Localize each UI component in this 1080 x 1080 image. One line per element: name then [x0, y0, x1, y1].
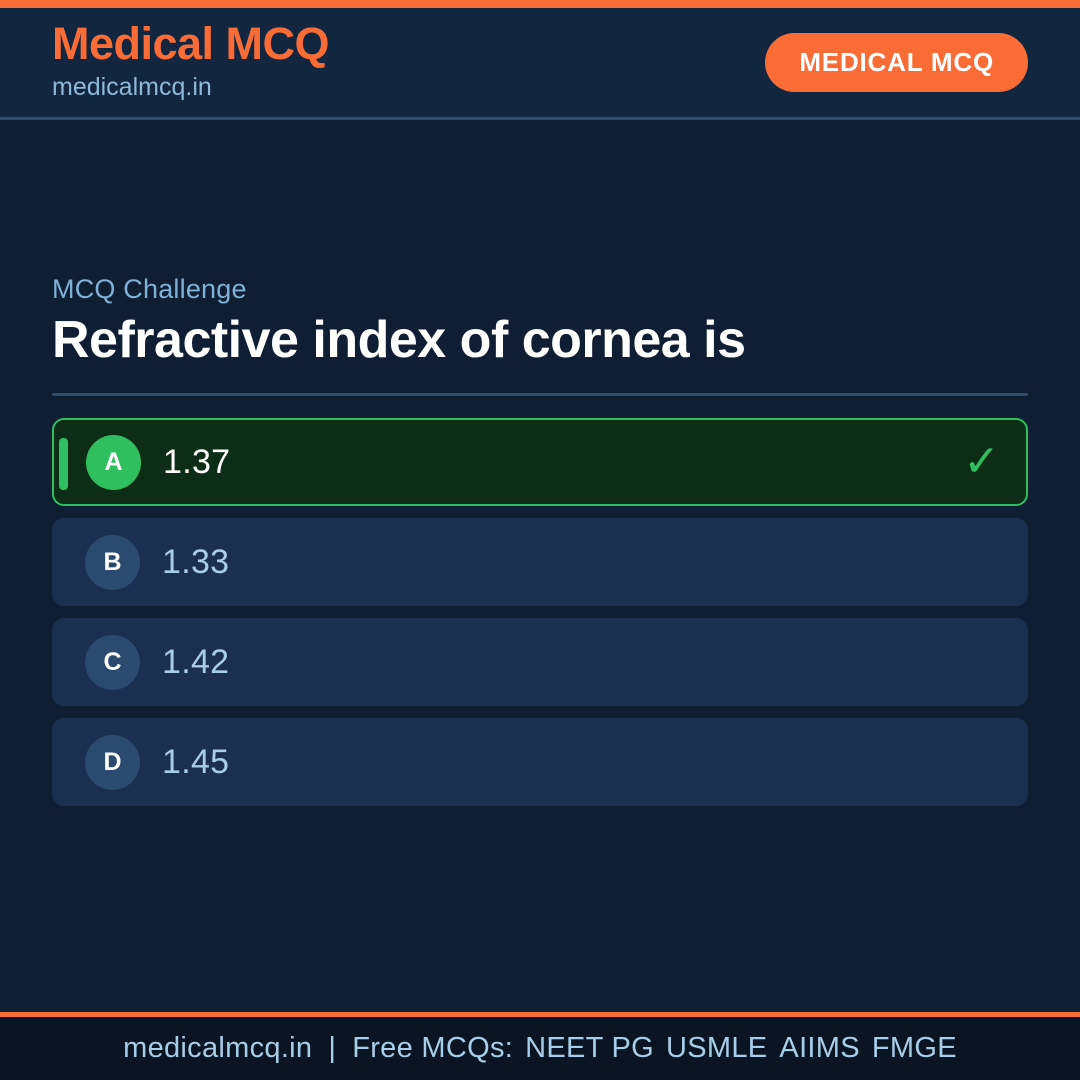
option-d[interactable]: D 1.45 — [52, 718, 1028, 806]
option-b[interactable]: B 1.33 — [52, 518, 1028, 606]
mcq-card: Medical MCQ medicalmcq.in MEDICAL MCQ MC… — [0, 0, 1080, 1080]
footer-site: medicalmcq.in — [123, 1032, 312, 1064]
options-list: A 1.37 ✓ B 1.33 C 1.42 — [52, 418, 1028, 806]
footer-tag-aiims: AIIMS — [767, 1032, 859, 1064]
footer-tag-neet-pg: NEET PG — [513, 1032, 654, 1064]
option-text: 1.37 — [163, 443, 230, 482]
option-letter-badge: C — [85, 635, 140, 690]
option-letter-badge: D — [85, 735, 140, 790]
option-letter-badge: B — [85, 535, 140, 590]
footer-text: medicalmcq.in|Free MCQs:NEET PGUSMLEAIIM… — [123, 1032, 957, 1065]
option-a[interactable]: A 1.37 ✓ — [52, 418, 1028, 506]
question-text: Refractive index of cornea is — [52, 311, 1028, 369]
footer: medicalmcq.in|Free MCQs:NEET PGUSMLEAIIM… — [0, 1012, 1080, 1080]
divider — [52, 393, 1028, 396]
brand-title: Medical MCQ — [52, 20, 329, 67]
footer-separator: | — [312, 1032, 352, 1064]
option-text: 1.33 — [162, 543, 229, 582]
correct-accent-bar — [59, 438, 68, 490]
footer-tag-fmge: FMGE — [860, 1032, 957, 1064]
question-block: MCQ Challenge Refractive index of cornea… — [52, 274, 1028, 806]
header: Medical MCQ medicalmcq.in MEDICAL MCQ — [0, 8, 1080, 120]
option-letter-badge: A — [86, 435, 141, 490]
main-content: MCQ Challenge Refractive index of cornea… — [0, 120, 1080, 1012]
eyebrow-label: MCQ Challenge — [52, 274, 1028, 305]
header-badge: MEDICAL MCQ — [765, 33, 1028, 92]
option-text: 1.45 — [162, 743, 229, 782]
brand-block: Medical MCQ medicalmcq.in — [52, 20, 329, 104]
top-accent-bar — [0, 0, 1080, 8]
footer-prefix: Free MCQs: — [352, 1032, 513, 1064]
footer-tag-usmle: USMLE — [654, 1032, 767, 1064]
option-text: 1.42 — [162, 643, 229, 682]
check-icon: ✓ — [963, 440, 1000, 484]
option-c[interactable]: C 1.42 — [52, 618, 1028, 706]
brand-subtitle: medicalmcq.in — [52, 70, 329, 105]
